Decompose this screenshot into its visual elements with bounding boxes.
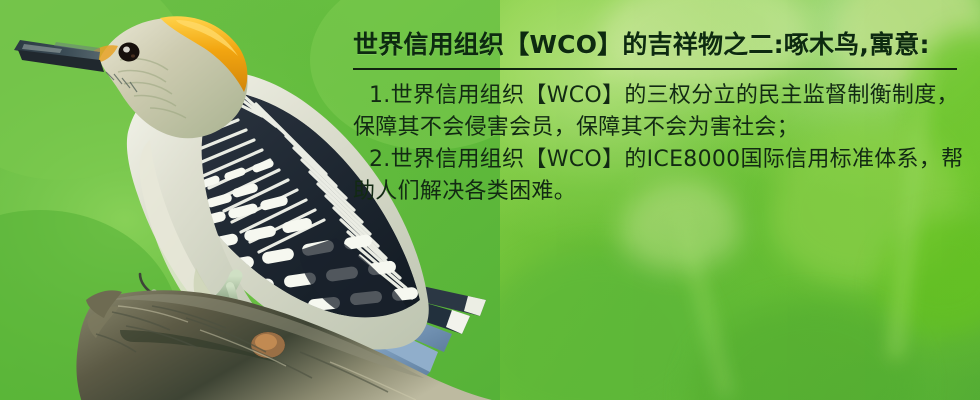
benefit-list: 1.世界信用组织【WCO】的三权分立的民主监督制衡制度， 保障其不会侵害会员，保… — [353, 80, 963, 208]
list-item: 2.世界信用组织【WCO】的ICE8000国际信用标准体系，帮 助人们解决各类困… — [353, 144, 963, 208]
list-item-line1: 2.世界信用组织【WCO】的ICE8000国际信用标准体系，帮 — [353, 144, 963, 176]
text-panel: 世界信用组织【WCO】的吉祥物之二:啄木鸟,寓意: 1.世界信用组织【WCO】的… — [353, 28, 963, 208]
list-item-line2: 助人们解决各类困难。 — [353, 176, 963, 208]
title-divider — [353, 68, 957, 70]
bird-eye — [119, 43, 140, 62]
list-item-line1: 1.世界信用组织【WCO】的三权分立的民主监督制衡制度， — [353, 80, 963, 112]
list-item-line2: 保障其不会侵害会员，保障其不会为害社会； — [353, 112, 963, 144]
list-item: 1.世界信用组织【WCO】的三权分立的民主监督制衡制度， 保障其不会侵害会员，保… — [353, 80, 963, 144]
promo-banner: 世界信用组织【WCO】的吉祥物之二:啄木鸟,寓意: 1.世界信用组织【WCO】的… — [0, 0, 980, 400]
page-title: 世界信用组织【WCO】的吉祥物之二:啄木鸟,寓意: — [353, 28, 963, 62]
